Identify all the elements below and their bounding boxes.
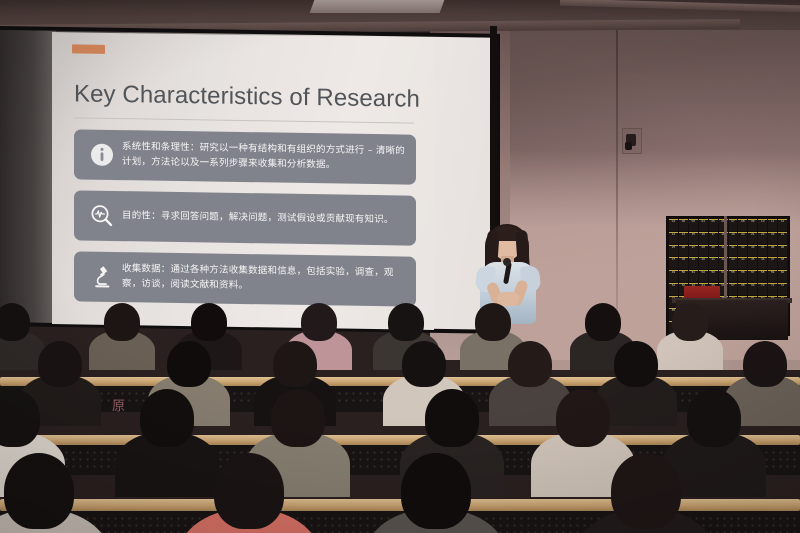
locker-cell: 34	[758, 245, 767, 257]
locker-cell: 44	[738, 257, 747, 269]
locker-cell: 03	[689, 219, 698, 231]
locker-cell: 48	[778, 257, 787, 269]
locker-cell: 50	[679, 270, 688, 282]
locker-cell: 51	[689, 270, 698, 282]
locker-cell: 08	[738, 219, 747, 231]
slide-card-text: 系统性和条理性：研究以一种有结构和有组织的方式进行 – 清晰的计划，方法论以及一…	[122, 140, 406, 174]
locker-cell: 60	[778, 270, 787, 282]
locker-cell: 55	[729, 270, 738, 282]
audience-member-head	[38, 341, 82, 387]
tshirt-graphic: 原	[112, 395, 125, 414]
locker-cell: 33	[748, 245, 757, 257]
audience-member-head	[475, 303, 511, 341]
locker-cell: 22	[758, 232, 767, 244]
locker-cell: 21	[748, 232, 757, 244]
audience-member-head	[585, 303, 621, 341]
locker-cell: 26	[679, 245, 688, 257]
locker-cell: 25	[669, 245, 678, 257]
locker-cell: 02	[679, 219, 688, 231]
locker-cell: 09	[748, 219, 757, 231]
locker-cell: 36	[778, 245, 787, 257]
locker-cell: 41	[709, 257, 718, 269]
audience-member-head	[614, 341, 658, 387]
locker-cell: 27	[689, 245, 698, 257]
locker-cell: 32	[738, 245, 747, 257]
locker-cell: 05	[709, 219, 718, 231]
locker-cell: 52	[699, 270, 708, 282]
camera-lens	[625, 142, 632, 150]
slide-card[interactable]: 系统性和条理性：研究以一种有结构和有组织的方式进行 – 清晰的计划，方法论以及一…	[74, 129, 416, 184]
seated-audience: 原	[0, 285, 800, 533]
locker-cell: 46	[758, 257, 767, 269]
audience-member-head	[672, 303, 708, 341]
locker-cell: 29	[709, 245, 718, 257]
audience-member-head	[104, 303, 140, 341]
locker-cell: 01	[669, 219, 678, 231]
locker-cell: 37	[669, 257, 678, 269]
audience-member-head	[167, 341, 211, 387]
locker-cell: 16	[699, 232, 708, 244]
locker-cell: 49	[669, 270, 678, 282]
locker-cell: 17	[709, 232, 718, 244]
audience-member-head	[4, 453, 74, 529]
microphone-head	[503, 258, 511, 266]
audience-member-head	[743, 341, 787, 387]
audience-member-head	[214, 453, 284, 529]
locker-cell: 58	[758, 270, 767, 282]
audience-member-head	[0, 303, 30, 341]
locker-cell: 28	[699, 245, 708, 257]
locker-cell: 57	[748, 270, 757, 282]
locker-cell: 38	[679, 257, 688, 269]
info-circle-icon	[82, 137, 122, 172]
locker-cell: 47	[768, 257, 777, 269]
magnifier-pulse-icon	[82, 198, 122, 233]
locker-cell: 31	[729, 245, 738, 257]
audience-member-head	[191, 303, 227, 341]
locker-cell: 12	[778, 219, 787, 231]
audience-member-head	[271, 389, 325, 447]
audience-member-head	[388, 303, 424, 341]
locker-cell: 24	[778, 232, 787, 244]
locker-cell: 20	[738, 232, 747, 244]
audience-member-head	[556, 389, 610, 447]
locker-cell: 45	[748, 257, 757, 269]
title-divider	[74, 117, 414, 123]
audience-member-head	[402, 341, 446, 387]
locker-cell: 56	[738, 270, 747, 282]
locker-cell: 10	[758, 219, 767, 231]
locker-cell: 59	[768, 270, 777, 282]
locker-cell: 13	[669, 232, 678, 244]
audience-member-head	[687, 389, 741, 447]
slide-card-text: 目的性：寻求回答问题，解决问题，测试假设或贡献现有知识。	[122, 209, 406, 228]
audience-member-head	[401, 453, 471, 529]
audience-member-head	[301, 303, 337, 341]
locker-cell: 07	[729, 219, 738, 231]
audience-member-head	[273, 341, 317, 387]
audience-member-head	[425, 389, 479, 447]
locker-cell: 14	[679, 232, 688, 244]
locker-cell: 11	[768, 219, 777, 231]
ceiling-panel	[310, 0, 445, 13]
locker-cell: 04	[699, 219, 708, 231]
locker-cell: 15	[689, 232, 698, 244]
locker-cell: 19	[729, 232, 738, 244]
locker-cell: 35	[768, 245, 777, 257]
slide-title: Key Characteristics of Research	[74, 80, 420, 113]
audience-member-head	[140, 389, 194, 447]
slide-card[interactable]: 目的性：寻求回答问题，解决问题，测试假设或贡献现有知识。	[74, 190, 416, 245]
locker-cell: 53	[709, 270, 718, 282]
accent-bar	[72, 44, 105, 54]
security-camera-icon	[622, 128, 640, 152]
locker-cell: 43	[729, 257, 738, 269]
audience-member-head	[611, 453, 681, 529]
lecture-hall-scene: 0102030405060708091011121314151617181920…	[0, 0, 800, 533]
locker-cell: 39	[689, 257, 698, 269]
locker-cell: 23	[768, 232, 777, 244]
locker-cell: 40	[699, 257, 708, 269]
projection-screen-unlit-band	[0, 30, 56, 323]
audience-member-head	[508, 341, 552, 387]
